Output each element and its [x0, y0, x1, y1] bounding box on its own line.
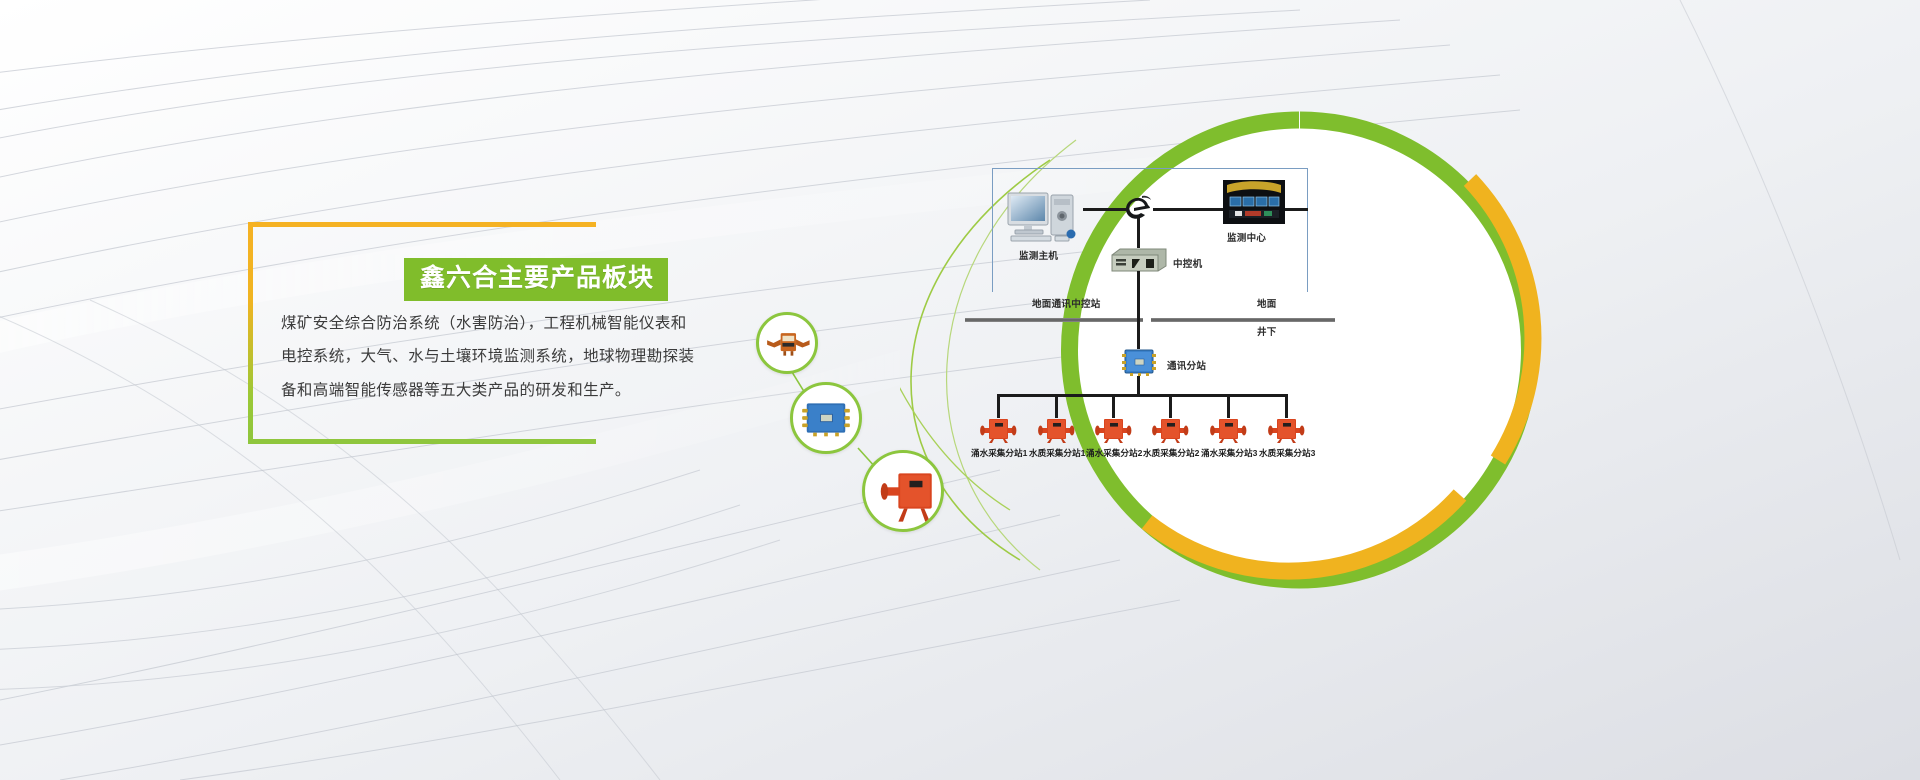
substation-icon-5 [1209, 417, 1247, 444]
substation-icon-4 [1151, 417, 1189, 444]
product-bubble-orange-sensor[interactable] [756, 312, 818, 374]
product-bubble-blue-junction-box[interactable] [790, 382, 862, 454]
wire-drop-2 [1055, 394, 1058, 418]
wire-host-to-internet [1083, 208, 1127, 211]
system-topology-diagram: 监测主机 中控机 [975, 168, 1325, 468]
page-title: 鑫六合主要产品板块 [404, 258, 668, 301]
blue-junction-box-icon [793, 385, 859, 451]
substation-icon-2 [1037, 417, 1075, 444]
substation-label-4: 水质采集分站2 [1143, 447, 1199, 459]
central-control-icon [1108, 246, 1168, 274]
substation-icon-3 [1094, 417, 1132, 444]
wire-horizontal-bus [997, 394, 1287, 397]
substation-label-3: 涌水采集分站2 [1086, 447, 1142, 459]
wire-drop-6 [1285, 394, 1288, 418]
surface-station-label: 地面通讯中控站 [1032, 296, 1101, 310]
comm-substation-icon [1121, 348, 1157, 376]
red-collection-station-icon [865, 453, 941, 529]
substation-label-2: 水质采集分站1 [1029, 447, 1085, 459]
underground-layer-label: 井下 [1257, 324, 1277, 338]
ground-divider-left [965, 318, 1143, 322]
substation-label-1: 涌水采集分站1 [971, 447, 1027, 459]
description-line-2: 电控系统，大气、水与土壤环境监测系统，地球物理勘探装 [281, 340, 711, 373]
wire-substation-to-bus [1137, 376, 1140, 396]
wire-drop-1 [997, 394, 1000, 418]
monitor-center-icon [1223, 180, 1285, 224]
orange-sensor-device-icon [759, 315, 815, 371]
wire-trunk-down [1137, 271, 1140, 349]
substation-icon-1 [979, 417, 1017, 444]
wire-internet-to-central-control [1137, 218, 1140, 248]
monitor-center-label: 监测中心 [1227, 230, 1266, 244]
description-line-3: 备和高端智能传感器等五大类产品的研发和生产。 [281, 374, 711, 407]
monitor-host-icon [1005, 190, 1083, 246]
wire-drop-5 [1227, 394, 1230, 418]
substation-label-6: 水质采集分站3 [1259, 447, 1315, 459]
ground-divider-right [1151, 318, 1335, 322]
substation-label-5: 涌水采集分站3 [1201, 447, 1257, 459]
substation-icon-6 [1267, 417, 1305, 444]
ground-layer-label: 地面 [1257, 296, 1277, 310]
product-bubble-red-collection-station[interactable] [862, 450, 944, 532]
wire-drop-4 [1169, 394, 1172, 418]
banner-canvas: 鑫六合主要产品板块 煤矿安全综合防治系统（水害防治），工程机械智能仪表和 电控系… [0, 0, 1920, 780]
description-paragraph: 煤矿安全综合防治系统（水害防治），工程机械智能仪表和 电控系统，大气、水与土壤环… [281, 307, 711, 407]
central-control-label: 中控机 [1173, 256, 1202, 270]
wire-drop-3 [1112, 394, 1115, 418]
monitor-host-label: 监测主机 [1019, 248, 1058, 262]
description-line-1: 煤矿安全综合防治系统（水害防治），工程机械智能仪表和 [281, 307, 711, 340]
comm-substation-label: 通讯分站 [1167, 358, 1206, 372]
